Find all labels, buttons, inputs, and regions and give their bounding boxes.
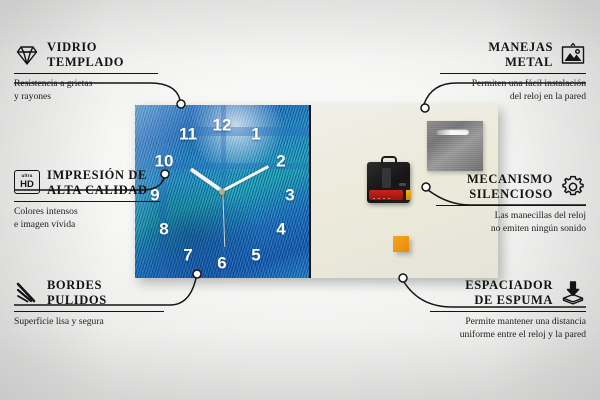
clock-numeral: 7: [183, 247, 192, 264]
callout-desc-line2: no emiten ningún sonido: [491, 223, 586, 234]
hanger-slot: [436, 129, 470, 136]
polished-edges-icon: [14, 280, 40, 306]
callout-title-line2: PULIDOS: [47, 293, 107, 307]
callout-description: Permite mantener una distancia uniforme …: [430, 316, 586, 341]
callout-foam-spacer: ESPACIADOR DE ESPUMA Permite mantener un…: [430, 278, 586, 341]
callout-polished-edges: BORDES PULIDOS Superficie lisa y segura: [14, 278, 164, 329]
callout-divider: [430, 311, 586, 313]
callout-description: Superficie lisa y segura: [14, 316, 164, 329]
mechanism-hanger-loop: [381, 156, 397, 165]
callout-desc-line1: Las manecillas del reloj: [495, 210, 586, 221]
callout-desc-line2: uniforme entre el reloj y la pared: [460, 329, 586, 340]
clock-numeral: 1: [251, 126, 260, 143]
battery-label: [373, 198, 393, 199]
callout-title-line1: MECANISMO: [467, 172, 553, 186]
callout-divider: [436, 205, 586, 207]
callout-title: MANEJAS METAL: [488, 40, 553, 70]
callout-title: ESPACIADOR DE ESPUMA: [465, 278, 553, 308]
callout-title-line2: DE ESPUMA: [474, 293, 553, 307]
callout-title-line2: ALTA CALIDAD: [47, 183, 148, 197]
callout-title: BORDES PULIDOS: [47, 278, 107, 308]
foam-spacer: [393, 236, 409, 252]
callout-metal-handles: MANEJAS METAL Permiten una fácil instala…: [440, 40, 586, 103]
metal-hanger: [427, 121, 483, 171]
callout-silent-mechanism: MECANISMO SILENCIOSO Las manecillas del …: [436, 172, 586, 235]
callout-title: VIDRIO TEMPLADO: [47, 40, 124, 70]
diamond-icon: [14, 42, 40, 68]
callout-description: Las manecillas del reloj no emiten ningú…: [436, 210, 586, 235]
clock-numeral: 6: [217, 255, 226, 272]
clock-mechanism: [367, 162, 410, 203]
callout-title-line1: MANEJAS: [488, 40, 553, 54]
callout-title-line2: SILENCIOSO: [469, 187, 553, 201]
callout-title: IMPRESIÓN DE ALTA CALIDAD: [47, 168, 148, 198]
callout-title-line2: METAL: [505, 55, 553, 69]
callout-desc-line2: e imagen vívida: [14, 219, 75, 230]
callout-desc-line2: y rayones: [14, 91, 51, 102]
callout-title-line1: ESPACIADOR: [465, 278, 553, 292]
ultra-hd-icon-main-text: HD: [20, 180, 34, 190]
callout-divider: [14, 311, 164, 313]
clock-numeral: 11: [179, 126, 197, 143]
clock-numeral: 2: [276, 153, 285, 170]
battery: [369, 190, 403, 200]
callout-desc-line1: Colores intensos: [14, 206, 78, 217]
clock-numeral: 10: [155, 153, 174, 170]
callout-description: Permiten una fácil instalación del reloj…: [440, 78, 586, 103]
clock-numeral: 4: [276, 221, 285, 238]
callout-title-line1: IMPRESIÓN DE: [47, 168, 147, 182]
callout-desc-line1: Resistencia a grietas: [14, 78, 92, 89]
battery-tip: [406, 190, 412, 200]
clock-hour-hand: [190, 168, 223, 193]
clock-face: 12 1 2 3 4 5 6 7 8 9 10 11: [135, 105, 309, 278]
clock-numeral: 12: [213, 117, 232, 134]
callout-divider: [14, 73, 158, 75]
callout-desc-line1: Permiten una fácil instalación: [472, 78, 586, 89]
callout-description: Colores intensos e imagen vívida: [14, 206, 160, 231]
callout-hd-print: ultra HD IMPRESIÓN DE ALTA CALIDAD Color…: [14, 168, 160, 231]
callout-title-line1: VIDRIO: [47, 40, 97, 54]
callout-divider: [440, 73, 586, 75]
callout-title-line1: BORDES: [47, 278, 102, 292]
mechanism-shaft: [382, 168, 391, 188]
callout-tempered-glass: VIDRIO TEMPLADO Resistencia a grietas y …: [14, 40, 158, 103]
callout-title-line2: TEMPLADO: [47, 55, 124, 69]
callout-desc-line1: Permite mantener una distancia: [465, 316, 586, 327]
clock-center-cap: [219, 189, 225, 195]
clock-numeral: 3: [285, 187, 294, 204]
clock-numeral: 5: [251, 247, 260, 264]
clock-numeral: 8: [159, 221, 168, 238]
callout-title: MECANISMO SILENCIOSO: [467, 172, 553, 202]
callout-desc-line1: Superficie lisa y segura: [14, 316, 104, 327]
gear-icon: [560, 174, 586, 200]
clock-minute-hand: [221, 165, 269, 192]
ultra-hd-icon: ultra HD: [14, 170, 40, 196]
mechanism-marking: [399, 183, 406, 186]
callout-divider: [14, 201, 160, 203]
callout-description: Resistencia a grietas y rayones: [14, 78, 158, 103]
picture-frame-icon: [560, 42, 586, 68]
press-down-icon: [560, 280, 586, 306]
callout-desc-line2: del reloj en la pared: [510, 91, 586, 102]
